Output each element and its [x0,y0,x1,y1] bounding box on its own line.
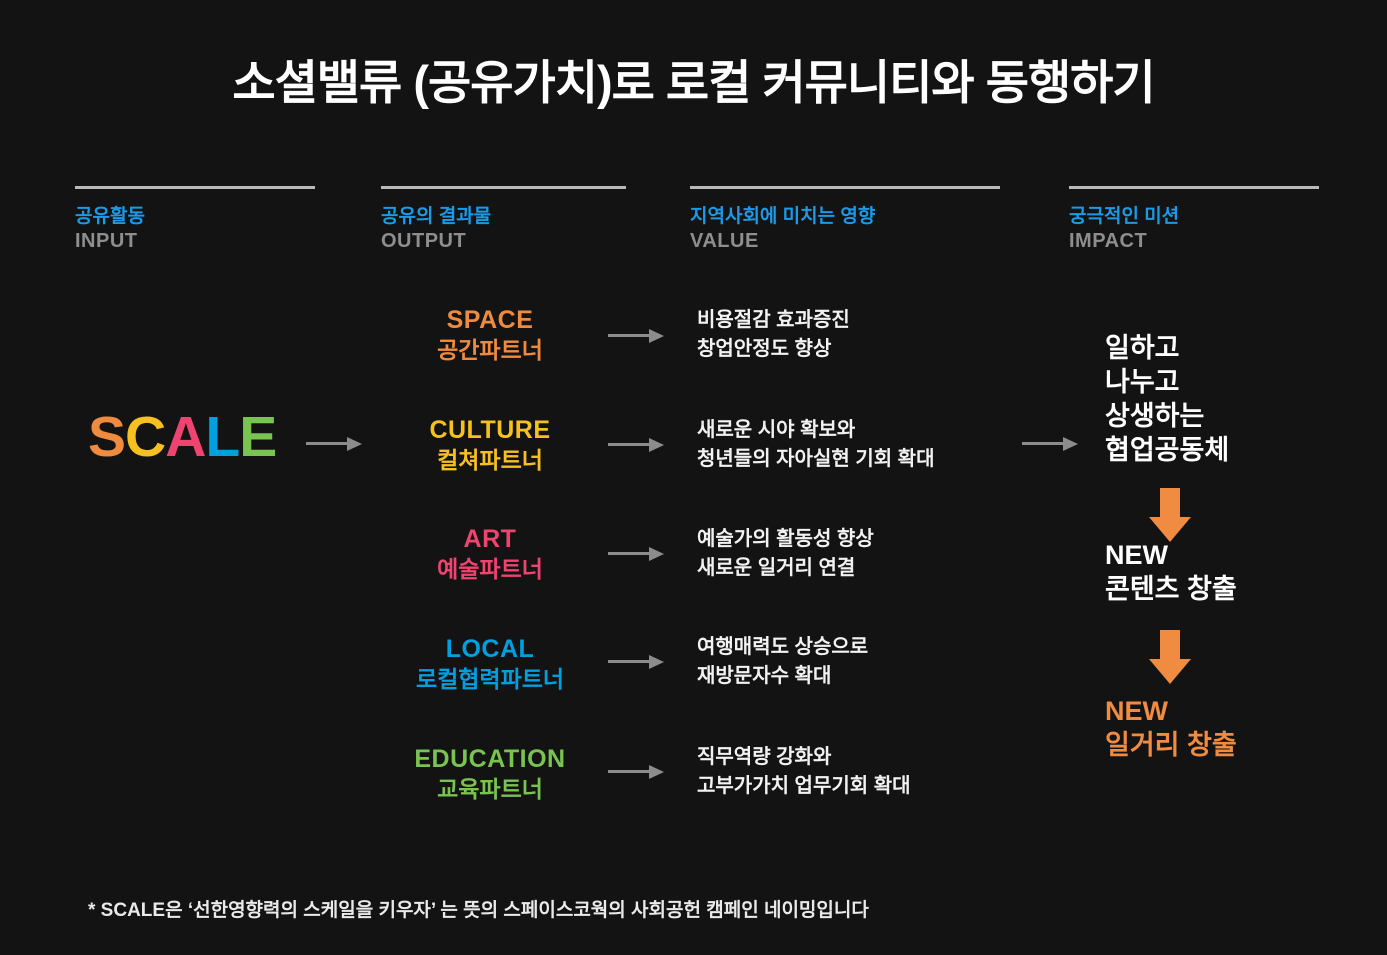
output-label-en: ART [381,524,599,555]
arrow-shaft [608,660,650,663]
arrow-head [1063,437,1078,451]
impact-mission: 일하고 나누고 상생하는 협업공동체 [1105,331,1345,467]
arrow-tip [1149,659,1191,684]
impact-line: 상생하는 [1105,399,1345,433]
value-line: 청년들의 자아실현 기회 확대 [697,445,1027,474]
arrow-shaft [1022,442,1064,445]
footnote: * SCALE은 ‘선한영향력의 스케일을 키우자’ 는 뜻의 스페이스코웍의 … [88,895,869,922]
arrow-head [649,438,664,452]
column-header-en: IMPACT [1069,229,1319,254]
impact-line: 일거리 창출 [1105,728,1345,762]
column-header-value: 지역사회에 미치는 영향 VALUE [690,186,1000,254]
value-line: 새로운 시야 확보와 [697,416,1027,445]
output-item: ART 예술파트너 [381,524,599,583]
output-label-en: CULTURE [381,415,599,446]
impact-line: NEW [1105,538,1345,572]
page-title: 소셜밸류 (공유가치)로 로컬 커뮤니티와 동행하기 [0,44,1387,113]
column-header-kr: 지역사회에 미치는 영향 [690,205,1000,229]
value-item: 예술가의 활동성 향상 새로운 일거리 연결 [697,525,1027,583]
arrow-head [649,547,664,561]
impact-line: NEW [1105,694,1345,728]
output-label-en: LOCAL [381,634,599,665]
column-header-kr: 궁극적인 미션 [1069,205,1319,229]
impact-line: 협업공동체 [1105,433,1345,467]
column-header-en: INPUT [75,229,315,254]
column-header-impact: 궁극적인 미션 IMPACT [1069,186,1319,254]
output-label-en: EDUCATION [381,744,599,775]
column-header-en: VALUE [690,229,1000,254]
arrow-head [347,437,362,451]
arrow-shaft [608,334,650,337]
arrow-right-icon [608,545,664,563]
arrow-shaft [608,770,650,773]
output-label-kr: 컬쳐파트너 [381,446,599,474]
arrow-stem [1160,630,1180,661]
value-item: 여행매력도 상승으로 재방문자수 확대 [697,633,1027,691]
value-line: 고부가가치 업무기회 확대 [697,772,1027,801]
output-label-kr: 로컬협력파트너 [381,665,599,693]
scale-letter-e: E [239,409,276,466]
output-label-kr: 예술파트너 [381,555,599,583]
arrow-right-icon [608,436,664,454]
column-rule [690,186,1000,189]
value-line: 여행매력도 상승으로 [697,633,1027,662]
column-header-output: 공유의 결과물 OUTPUT [381,186,626,254]
arrow-head [649,655,664,669]
column-header-en: OUTPUT [381,229,626,254]
column-rule [1069,186,1319,189]
value-line: 직무역량 강화와 [697,743,1027,772]
column-rule [381,186,626,189]
impact-line: 나누고 [1105,365,1345,399]
value-line: 비용절감 효과증진 [697,306,1027,335]
value-line: 예술가의 활동성 향상 [697,525,1027,554]
output-label-kr: 공간파트너 [381,336,599,364]
arrow-head [649,765,664,779]
output-item: CULTURE 컬쳐파트너 [381,415,599,474]
output-item: EDUCATION 교육파트너 [381,744,599,803]
column-header-input: 공유활동 INPUT [75,186,315,254]
arrow-shaft [608,443,650,446]
arrow-shaft [608,552,650,555]
impact-line: 콘텐츠 창출 [1105,572,1345,606]
output-label-kr: 교육파트너 [381,775,599,803]
arrow-right-icon [1022,435,1078,453]
arrow-down-icon [1149,630,1191,684]
arrow-right-icon [608,763,664,781]
column-header-kr: 공유의 결과물 [381,205,626,229]
arrow-down-icon [1149,488,1191,542]
value-item: 새로운 시야 확보와 청년들의 자아실현 기회 확대 [697,416,1027,474]
impact-new-content: NEW 콘텐츠 창출 [1105,538,1345,606]
scale-letter-a: A [165,409,205,466]
arrow-head [649,329,664,343]
output-item: LOCAL 로컬협력파트너 [381,634,599,693]
scale-wordmark: SCALE [88,409,276,466]
value-line: 재방문자수 확대 [697,662,1027,691]
value-item: 비용절감 효과증진 창업안정도 향상 [697,306,1027,364]
output-label-en: SPACE [381,305,599,336]
arrow-shaft [306,442,348,445]
arrow-right-icon [608,327,664,345]
column-header-kr: 공유활동 [75,205,315,229]
impact-new-jobs: NEW 일거리 창출 [1105,694,1345,762]
impact-line: 일하고 [1105,331,1345,365]
column-rule [75,186,315,189]
value-line: 창업안정도 향상 [697,335,1027,364]
arrow-stem [1160,488,1180,519]
value-item: 직무역량 강화와 고부가가치 업무기회 확대 [697,743,1027,801]
value-line: 새로운 일거리 연결 [697,554,1027,583]
arrow-right-icon [608,653,664,671]
scale-letter-c: C [125,409,165,466]
scale-letter-s: S [88,409,125,466]
output-item: SPACE 공간파트너 [381,305,599,364]
infographic-canvas: 소셜밸류 (공유가치)로 로컬 커뮤니티와 동행하기 공유활동 INPUT 공유… [0,0,1387,955]
arrow-right-icon [306,435,362,453]
scale-letter-l: L [205,409,239,466]
